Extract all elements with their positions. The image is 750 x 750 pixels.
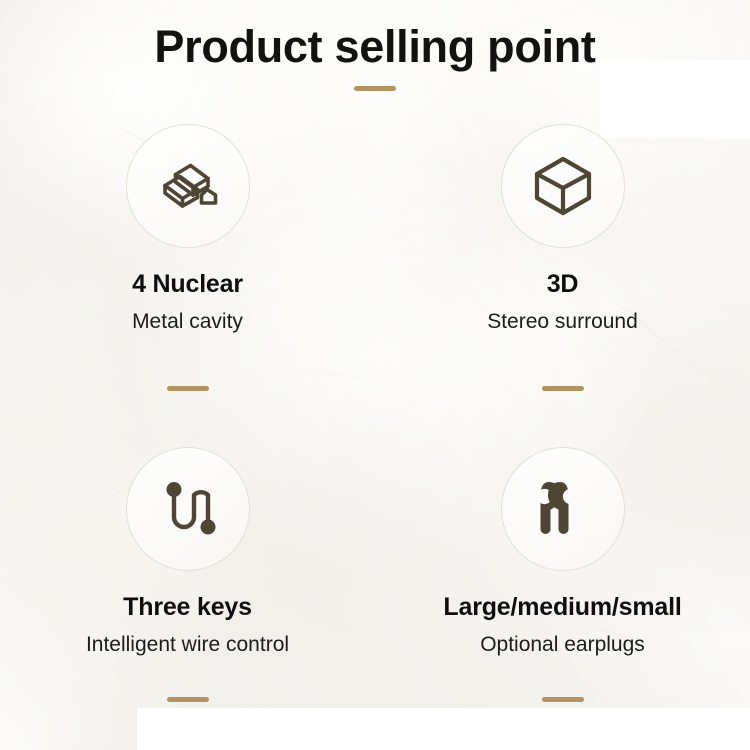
page-title: Product selling point: [0, 22, 750, 72]
feature-row-1: 4 Nuclear Metal cavity 3D Stereo surroun…: [0, 124, 750, 334]
cube-3d-icon: [501, 124, 625, 248]
feature-sublabel: Metal cavity: [132, 310, 243, 334]
feature-card-3d: 3D Stereo surround: [375, 124, 750, 334]
feature-card-earplugs: Large/medium/small Optional earplugs: [375, 447, 750, 657]
row-1-dividers: [0, 386, 750, 391]
selling-point-panel: Product selling point: [0, 0, 750, 750]
feature-label: 4 Nuclear: [132, 270, 243, 299]
row-2-dividers: [0, 697, 750, 702]
wire-control-icon: [126, 447, 250, 571]
section-divider-dash: [542, 697, 584, 702]
section-divider-dash: [542, 386, 584, 391]
section-divider-dash: [167, 697, 209, 702]
gold-bars-icon: [126, 124, 250, 248]
feature-label: 3D: [547, 270, 579, 299]
feature-label: Three keys: [123, 593, 252, 622]
feature-sublabel: Intelligent wire control: [86, 633, 289, 657]
feature-card-4-nuclear: 4 Nuclear Metal cavity: [0, 124, 375, 334]
feature-sublabel: Stereo surround: [487, 310, 638, 334]
feature-label: Large/medium/small: [443, 593, 681, 622]
feature-row-2: Three keys Intelligent wire control: [0, 447, 750, 657]
feature-sublabel: Optional earplugs: [480, 633, 645, 657]
title-divider-dash: [354, 86, 396, 91]
section-divider-dash: [167, 386, 209, 391]
feature-card-three-keys: Three keys Intelligent wire control: [0, 447, 375, 657]
feature-grid: 4 Nuclear Metal cavity 3D Stereo surroun…: [0, 124, 750, 702]
earbuds-icon: [501, 447, 625, 571]
